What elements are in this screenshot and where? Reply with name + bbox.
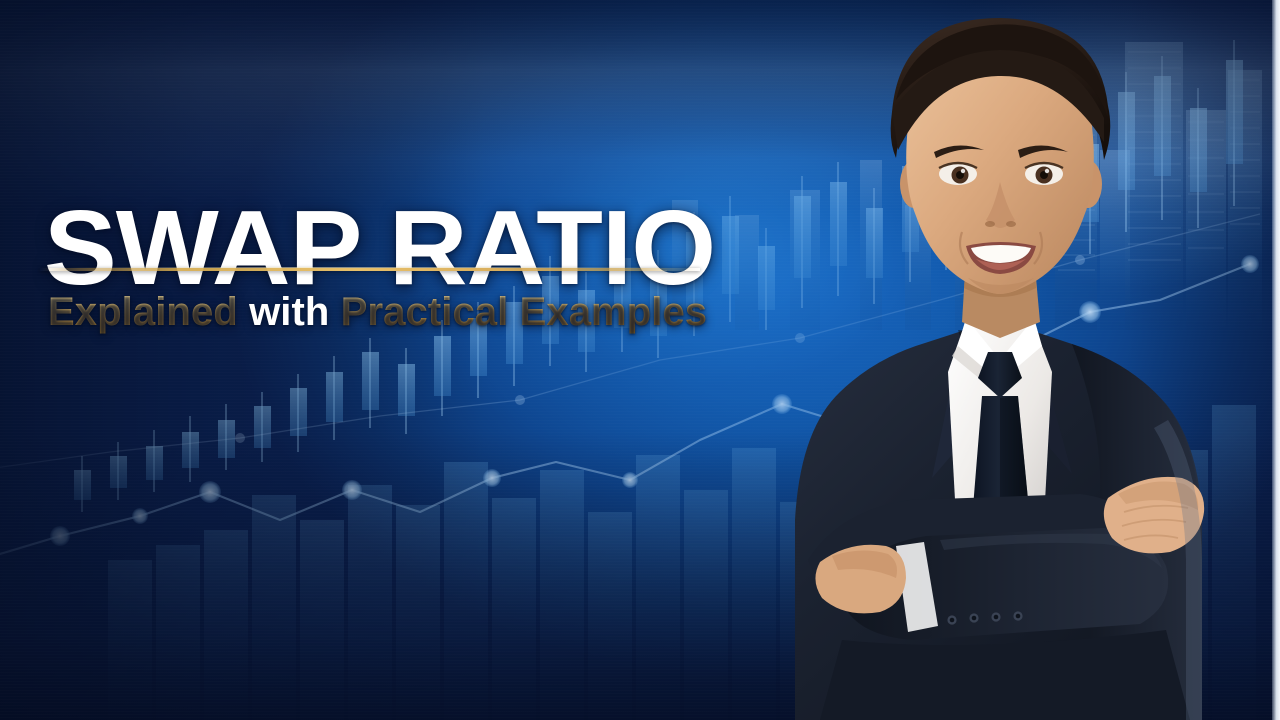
presenter-photo bbox=[700, 0, 1280, 720]
subtitle-word-with: with bbox=[249, 290, 329, 334]
subtitle-word-explained: Explained bbox=[48, 290, 238, 334]
presenter-crossed-arms bbox=[808, 477, 1204, 720]
page-subtitle: Explained with Practical Examples bbox=[48, 291, 707, 333]
video-thumbnail: SWAP RATIO Explained with Practical Exam… bbox=[0, 0, 1280, 720]
presenter-head bbox=[891, 18, 1111, 294]
gold-divider-highlight bbox=[40, 267, 700, 268]
right-edge-light-strip bbox=[1272, 0, 1280, 720]
subtitle-word-practical-examples: Practical Examples bbox=[341, 290, 707, 334]
headline-block: SWAP RATIO Explained with Practical Exam… bbox=[0, 0, 760, 400]
gold-divider-line bbox=[40, 268, 700, 271]
page-title: SWAP RATIO bbox=[44, 195, 715, 301]
presenter-illustration bbox=[700, 0, 1280, 720]
